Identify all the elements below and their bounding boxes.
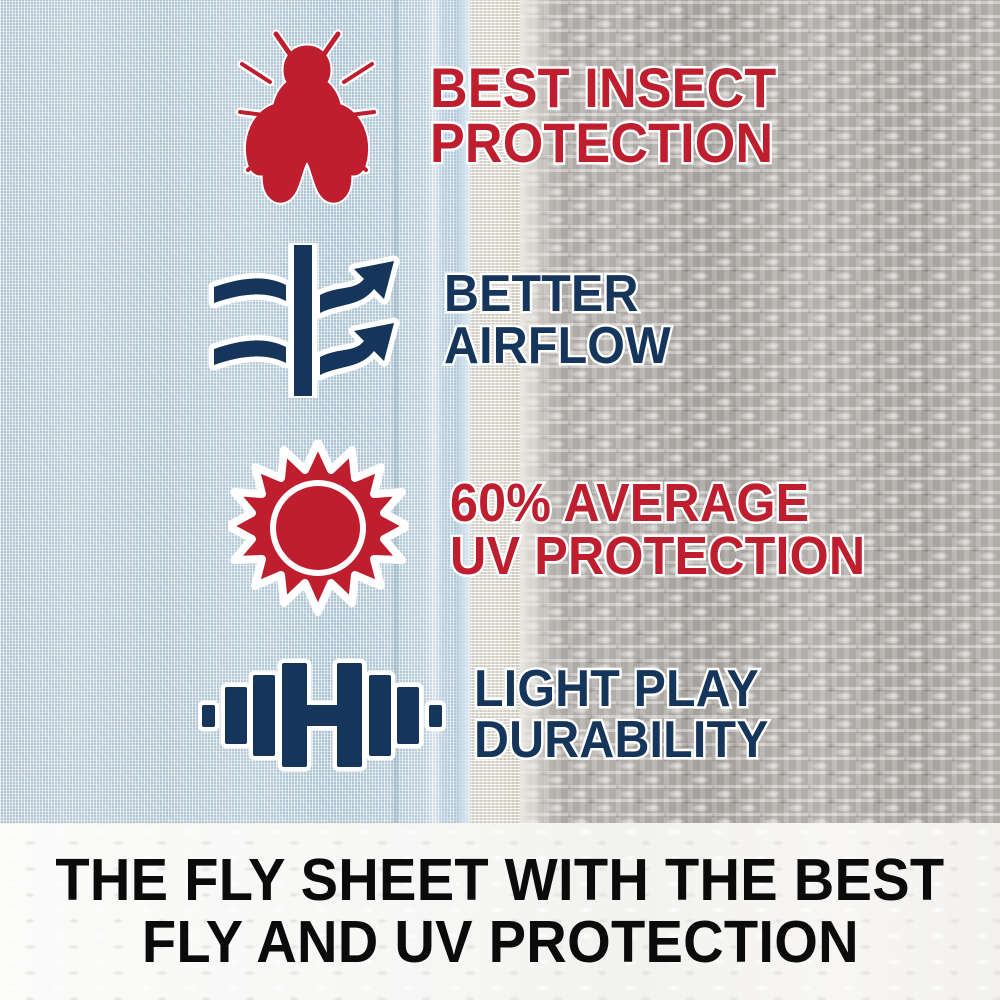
sun-icon — [228, 440, 408, 620]
feature-row-better-airflow: BETTER AIRFLOW — [208, 243, 688, 398]
banner-headline-line-1: THE FLY SHEET WITH THE BEST — [55, 850, 944, 911]
feature-label-uv-protection: 60% AVERAGE UV PROTECTION — [450, 477, 865, 584]
feature-row-insect-protection: BEST INSECT PROTECTION — [232, 20, 802, 210]
bottom-banner: THE FLY SHEET WITH THE BEST FLY AND UV P… — [0, 823, 1000, 1000]
infographic-canvas: BEST INSECT PROTECTION — [0, 0, 1000, 1000]
feature-row-light-play-durability: LIGHT PLAY DURABILITY — [198, 655, 791, 775]
feature-label-light-play-durability: LIGHT PLAY DURABILITY — [474, 664, 769, 767]
fly-icon — [232, 20, 382, 210]
feature-label-better-airflow: BETTER AIRFLOW — [444, 269, 671, 372]
dumbbell-icon — [198, 655, 446, 775]
banner-headline-line-2: FLY AND UV PROTECTION — [141, 912, 858, 973]
feature-label-insect-protection: BEST INSECT PROTECTION — [430, 60, 776, 171]
airflow-icon — [208, 243, 408, 398]
feature-row-uv-protection: 60% AVERAGE UV PROTECTION — [228, 440, 897, 620]
